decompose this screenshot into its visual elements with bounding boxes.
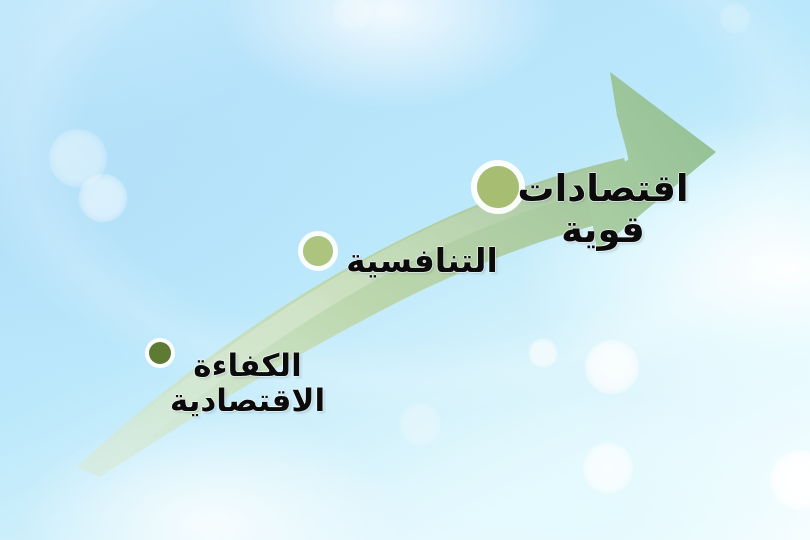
- slide-canvas: اقتصادات قوية التنافسية الكفاءة الاقتصاد…: [0, 0, 810, 540]
- label-competitiveness: التنافسية: [332, 243, 512, 280]
- label-strong-economies: اقتصادات قوية: [498, 168, 708, 251]
- label-economic-efficiency: الكفاءة الاقتصادية: [155, 349, 340, 418]
- stage-marker-2: [303, 236, 333, 266]
